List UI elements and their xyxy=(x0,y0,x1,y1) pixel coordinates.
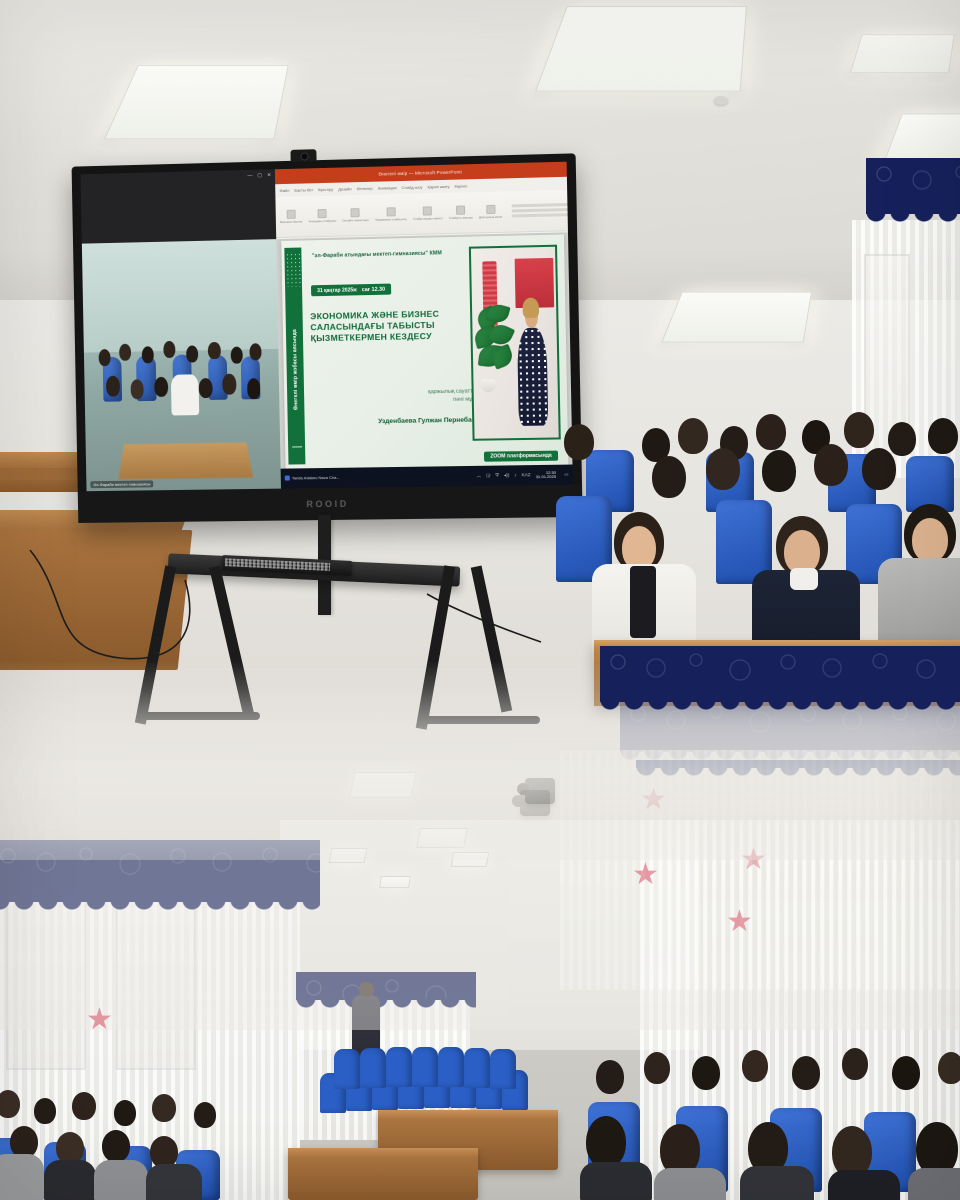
lambrequin-valance xyxy=(866,158,960,214)
remote-presenter xyxy=(171,374,199,415)
student-head xyxy=(792,1056,820,1090)
student-head xyxy=(844,412,874,448)
slide-time: сағ 12.30 xyxy=(362,286,385,293)
tab-view[interactable]: Көрініс xyxy=(454,183,467,188)
ribbon-label: Дикторлық мәтін xyxy=(479,215,502,220)
ceiling-lamp-icon xyxy=(104,65,289,139)
valance-pattern xyxy=(600,646,960,702)
plant-pot xyxy=(481,379,496,393)
ceiling-lamp-icon xyxy=(416,828,468,848)
student-body xyxy=(146,1164,202,1200)
remote-wall xyxy=(82,239,279,352)
ribbon-label: Онлайн таныстыру xyxy=(342,218,369,223)
powerpoint-title: Өнегелі өмір — Microsoft PowerPoint xyxy=(378,169,461,176)
student-head xyxy=(564,424,594,460)
network-icon[interactable]: ◲ xyxy=(486,472,490,478)
role-line-2: пәні мұғалімі xyxy=(362,395,487,405)
window xyxy=(116,900,196,1070)
remote-desk xyxy=(118,442,253,479)
slide-title: ЭКОНОМИКА ЖӘНЕ БИЗНЕС САЛАСЫНДАҒЫ ТАБЫСТ… xyxy=(310,308,452,344)
ribbon-label: Таңдамалы слайд-шоу xyxy=(375,217,407,222)
remote-crowd xyxy=(95,339,268,426)
lambrequin-valance xyxy=(600,646,960,702)
webcam-icon xyxy=(290,149,316,162)
lambrequin-valance xyxy=(0,840,320,902)
zoom-feed-label: Әл-Фараби мектеп-гимназиясы xyxy=(90,480,153,488)
lower-room-photo xyxy=(0,700,960,1200)
ceiling-lamp-icon xyxy=(329,848,368,863)
student-head xyxy=(231,347,243,364)
window-controls[interactable]: — ▢ ✕ xyxy=(247,172,271,179)
student-head xyxy=(222,374,236,395)
slide-speaker-photo xyxy=(468,244,560,440)
student-body xyxy=(44,1160,96,1200)
language-icon[interactable]: ♪ xyxy=(514,473,516,478)
shield-icon[interactable]: ⛨ xyxy=(495,473,499,478)
speaker-figure xyxy=(517,300,548,426)
student-head xyxy=(106,376,120,396)
custom-show-icon xyxy=(386,207,395,216)
window xyxy=(6,900,86,1070)
tv-stand-base xyxy=(420,716,540,724)
student-head xyxy=(652,456,686,498)
ribbon-label: Ағымдағы слайдтан xyxy=(309,219,337,224)
slide-speaker-role: қаржылық сауаттылық пәні мұғалімі xyxy=(362,387,487,405)
sidebar-divider xyxy=(292,446,302,447)
upper-audience xyxy=(556,400,960,668)
ceiling-lamp-icon xyxy=(451,852,490,867)
volume-icon[interactable]: ◂)) xyxy=(504,472,509,478)
student-head xyxy=(152,1094,176,1122)
powerpoint-window[interactable]: Өнегелі өмір — Microsoft PowerPoint Файл… xyxy=(275,162,573,489)
slide-editing-area[interactable]: Өнегелі өмір жобасы аясында "әл-Фараби а… xyxy=(276,233,572,489)
student-head xyxy=(247,378,261,399)
ceiling-lamp-icon xyxy=(661,292,812,343)
student-head xyxy=(198,378,212,398)
student-body xyxy=(908,1168,960,1200)
student-body xyxy=(654,1168,726,1200)
tv-screen[interactable]: — ▢ ✕ Гүлжан Қосылды xyxy=(81,162,573,492)
student-head xyxy=(72,1092,96,1120)
student-body xyxy=(94,1160,148,1200)
student-head xyxy=(888,422,916,456)
valance-pattern xyxy=(866,158,960,214)
broadcast-icon xyxy=(351,208,360,217)
ribbon-button-from-beginning[interactable]: Басынан бастап xyxy=(280,209,303,224)
slide-platform-badge: ZOOM платформасында xyxy=(484,450,558,461)
ribbon-button-present-online[interactable]: Онлайн таныстыру xyxy=(342,208,369,223)
student-body xyxy=(0,1154,44,1200)
taskbar-clock[interactable]: 12:30 31.01.2025 xyxy=(536,470,557,479)
clock-date: 31.01.2025 xyxy=(536,475,556,480)
ceiling-projector-icon xyxy=(525,778,555,804)
potted-plant xyxy=(474,304,519,396)
tab-design[interactable]: Дизайн xyxy=(338,186,352,191)
play-current-icon xyxy=(318,209,327,218)
tab-home[interactable]: Басты бет xyxy=(294,187,313,192)
desk-top xyxy=(378,1110,558,1119)
student-head xyxy=(928,418,958,454)
student-head xyxy=(842,1048,868,1080)
project-vertical-text: Өнегелі өмір жобасы аясында xyxy=(292,329,300,410)
lambrequin-valance xyxy=(296,972,476,1000)
student-head xyxy=(34,1098,56,1124)
upper-room-photo: — ▢ ✕ Гүлжан Қосылды xyxy=(0,0,960,760)
tv-brand-logo: ROOID xyxy=(306,499,349,510)
wooden-desk xyxy=(288,1148,478,1200)
play-icon xyxy=(287,209,296,218)
zoom-video-pane[interactable]: — ▢ ✕ Гүлжан Қосылды xyxy=(81,169,282,491)
student-head xyxy=(644,1052,670,1084)
slide-title-line-3: ҚЫЗМЕТКЕРМЕН КЕЗДЕСУ xyxy=(311,330,452,344)
ribbon-label: Басынан бастап xyxy=(280,219,303,224)
tab-review[interactable]: Қарап шығу xyxy=(427,183,449,189)
tab-file[interactable]: Файл xyxy=(279,187,289,192)
collar-white xyxy=(790,568,818,590)
polka-dot-dress xyxy=(517,328,548,427)
checkbox-presenter-view[interactable] xyxy=(511,203,570,207)
valance-pattern xyxy=(296,972,476,1000)
student-head xyxy=(692,1056,720,1090)
tv-stand-base xyxy=(140,712,260,720)
ceiling-lamp-icon xyxy=(850,34,955,72)
screenshot-root: — ▢ ✕ Гүлжан Қосылды xyxy=(0,0,960,1200)
tab-slideshow[interactable]: Слайд-шоу xyxy=(402,184,423,190)
taskbar-app-item[interactable]: Tanda Adalaru Nava Cha... xyxy=(285,475,340,481)
student-head xyxy=(678,418,708,454)
tab-transitions[interactable]: Өтпелер xyxy=(357,185,373,190)
student-head xyxy=(586,1116,626,1168)
dot-pattern xyxy=(286,252,301,287)
student-head xyxy=(938,1052,960,1084)
app-icon xyxy=(285,476,290,481)
powerpoint-ribbon[interactable]: Басынан бастап Ағымдағы слайдтан Онлайн … xyxy=(276,189,568,238)
student-head xyxy=(862,448,896,490)
zoom-remote-feed: Әл-Фараби мектеп-гимназиясы xyxy=(82,239,281,491)
zoom-video-header xyxy=(81,169,277,244)
ribbon-label: Слайдты жасыру xyxy=(449,215,473,220)
ribbon-button-custom-show[interactable]: Таңдамалы слайд-шоу xyxy=(375,207,407,222)
speaker-hair xyxy=(523,298,540,318)
tab-insert[interactable]: Кірістіру xyxy=(318,186,333,191)
student-head xyxy=(756,414,786,450)
maximize-icon[interactable]: ▢ xyxy=(257,173,262,179)
ribbon-button-hide-slide[interactable]: Слайдты жасыру xyxy=(449,205,473,220)
student-head xyxy=(114,1100,136,1126)
slide-date: 31 қаңтар 2025ж xyxy=(317,287,357,294)
minimize-icon[interactable]: — xyxy=(247,173,252,179)
checkbox-use-timings[interactable] xyxy=(511,213,570,217)
student-body xyxy=(828,1170,900,1200)
student-head xyxy=(892,1056,920,1090)
keyboard-keys xyxy=(225,558,330,571)
checkbox-media-controls[interactable] xyxy=(511,208,570,212)
student-head xyxy=(141,347,153,364)
zoom-meeting-window[interactable]: — ▢ ✕ Гүлжан Қосылды xyxy=(81,162,573,492)
student-head xyxy=(102,1130,130,1162)
student-head xyxy=(194,1102,216,1128)
ribbon-button-setup-show[interactable]: Слайд-шоуды орнату xyxy=(413,206,443,221)
presentation-slide[interactable]: Өнегелі өмір жобасы аясында "әл-Фараби а… xyxy=(281,235,568,476)
student-head xyxy=(762,450,796,492)
student-head xyxy=(596,1060,624,1094)
student-head xyxy=(208,342,220,359)
student-head xyxy=(814,444,848,486)
lower-right-audience xyxy=(580,1030,960,1200)
student-head xyxy=(249,343,261,360)
lower-left-audience xyxy=(0,1080,290,1200)
slide-organization: "әл-Фараби атындағы мектеп-гимназиясы" К… xyxy=(312,250,487,260)
record-icon xyxy=(486,205,495,214)
ceiling-lamp-icon xyxy=(535,6,747,91)
desk-top xyxy=(288,1148,478,1157)
empty-seat-rows xyxy=(320,1055,550,1115)
close-icon[interactable]: ✕ xyxy=(267,172,271,178)
student-head xyxy=(130,379,144,399)
student-inner-top xyxy=(630,566,656,638)
student-body xyxy=(580,1162,652,1200)
setup-icon xyxy=(423,206,432,215)
student-body xyxy=(740,1166,814,1200)
taskbar-spacer xyxy=(345,476,472,478)
ribbon-checkbox-group[interactable] xyxy=(511,203,570,218)
slide-date-badge: 31 қаңтар 2025ж сағ 12.30 xyxy=(311,284,391,297)
ribbon-button-record[interactable]: Дикторлық мәтін xyxy=(479,204,503,219)
student-head xyxy=(0,1090,20,1118)
tab-animations[interactable]: Анимация xyxy=(378,185,397,190)
student-head xyxy=(154,377,168,397)
student-head xyxy=(119,344,131,361)
student-head xyxy=(742,1050,768,1082)
smoke-detector-icon xyxy=(714,96,728,105)
keyboard-icon[interactable]: KAZ xyxy=(522,472,531,477)
valance-pattern xyxy=(0,840,320,902)
student-head xyxy=(186,346,198,363)
student-head xyxy=(706,448,740,490)
slide-green-sidebar: Өнегелі өмір жобасы аясында xyxy=(284,248,305,464)
student-head xyxy=(164,341,176,358)
chevron-up-icon[interactable]: ︿ xyxy=(477,473,482,479)
taskbar-app-title: Tanda Adalaru Nava Cha... xyxy=(292,475,340,481)
ceiling-lamp-icon xyxy=(349,772,417,798)
interactive-display-panel[interactable]: — ▢ ✕ Гүлжан Қосылды xyxy=(72,153,583,523)
slide-speaker-name: Узденбаева Гулжан Пернебаевна xyxy=(340,417,487,426)
hide-slide-icon xyxy=(456,205,465,214)
ribbon-label: Слайд-шоуды орнату xyxy=(413,216,443,221)
ceiling-lamp-icon xyxy=(379,876,411,888)
ribbon-button-from-current[interactable]: Ағымдағы слайдтан xyxy=(308,209,336,224)
student-face xyxy=(912,518,948,562)
